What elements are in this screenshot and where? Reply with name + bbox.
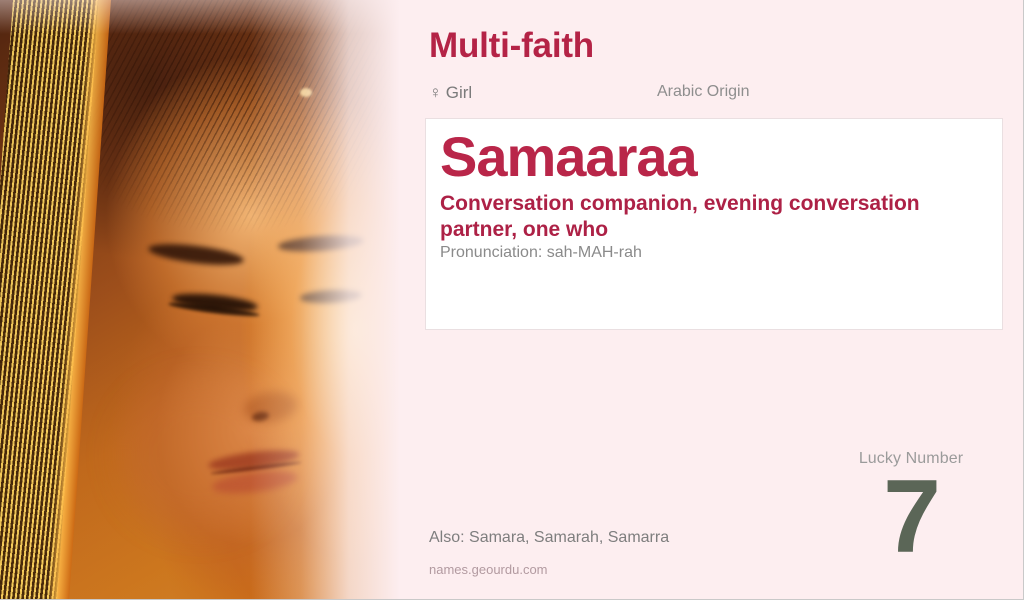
- gender-indicator: ♀Girl: [429, 83, 472, 103]
- gender-label: Girl: [446, 83, 472, 102]
- name-title: Samaaraa: [440, 128, 697, 187]
- content-panel: Multi-faith ♀Girl Arabic Origin Samaaraa…: [400, 0, 1024, 600]
- religion-title: Multi-faith: [429, 26, 594, 66]
- lucky-number-value: 7: [826, 464, 996, 570]
- female-gender-icon: ♀: [429, 83, 442, 102]
- site-watermark: names.geourdu.com: [429, 562, 548, 577]
- name-pronunciation: Pronunciation: sah-MAH-rah: [440, 244, 642, 262]
- name-detail-card: Samaaraa Conversation companion, evening…: [425, 118, 1003, 330]
- name-info-card: Multi-faith ♀Girl Arabic Origin Samaaraa…: [0, 0, 1024, 600]
- name-variants: Also: Samara, Samarah, Samarra: [429, 529, 669, 547]
- photo-right-fade: [250, 0, 400, 600]
- name-meta-row: ♀Girl Arabic Origin: [429, 83, 1009, 107]
- origin-label: Arabic Origin: [657, 83, 749, 101]
- lucky-number-block: Lucky Number 7: [826, 450, 996, 570]
- name-meaning: Conversation companion, evening conversa…: [440, 191, 940, 244]
- portrait-photo: [0, 0, 400, 600]
